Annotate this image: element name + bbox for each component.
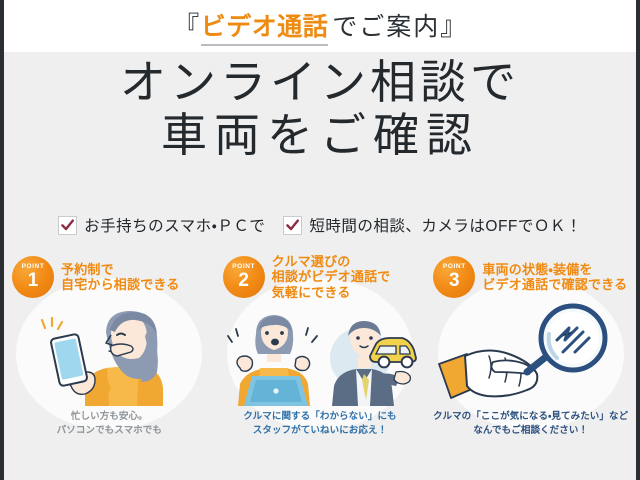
caption-line: クルマの「ここが気になる・見てみたい」など xyxy=(425,410,636,424)
check-label: 短時間の相談、カメラはOFFでＯＫ！ xyxy=(309,214,582,236)
badge-number: 2 xyxy=(238,271,249,290)
point-badge-3: POINT 3 xyxy=(433,256,475,298)
bracket-open: 『 xyxy=(173,6,200,43)
point-title-line: 自宅から相談できる xyxy=(61,277,180,293)
point-title-2: クルマ選びの 相談がビデオ通話で 気軽にできる xyxy=(272,254,391,301)
feature-check-row: お手持ちのスマホ・ＰＣで 短時間の相談、カメラはOFFでＯＫ！ xyxy=(4,214,636,236)
point-header-3: POINT 3 車両の状態・装備を ビデオ通話で確認できる xyxy=(425,252,636,302)
point-panel-3: POINT 3 車両の状態・装備を ビデオ通話で確認できる xyxy=(425,252,636,457)
promo-banner: 『 ビデオ通話 でご案内 』 オンライン相談で 車両をご確認 お手持ちのスマホ・… xyxy=(0,0,640,480)
check-item-camera-off: 短時間の相談、カメラはOFFでＯＫ！ xyxy=(283,214,582,236)
point-title-1: 予約制で 自宅から相談できる xyxy=(61,262,180,293)
point-badge-2: POINT 2 xyxy=(223,256,265,298)
check-label: お手持ちのスマホ・ＰＣで xyxy=(84,214,265,236)
header-tail-text: でご案内 xyxy=(332,7,440,43)
point-panel-2: POINT 2 クルマ選びの 相談がビデオ通話で 気軽にできる xyxy=(215,252,426,457)
badge-number: 3 xyxy=(449,271,460,290)
point-title-line: 予約制で xyxy=(61,262,180,278)
point-title-line: 気軽にできる xyxy=(272,285,391,301)
caption-line: 忙しい方も安心。 xyxy=(4,410,215,424)
check-icon xyxy=(58,216,77,235)
caption-line: スタッフがていねいにお応え！ xyxy=(215,424,426,438)
woman-with-smartphone-illustration xyxy=(4,302,215,406)
caption-line: パソコンでもスマホでも xyxy=(4,424,215,438)
point-title-line: クルマ選びの xyxy=(272,254,391,270)
point-title-line: ビデオ通話で確認できる xyxy=(482,277,627,293)
caption-line: クルマに関する「わからない」にも xyxy=(215,410,426,424)
hand-holding-magnifier-illustration xyxy=(425,302,636,406)
page-title: オンライン相談で 車両をご確認 xyxy=(4,56,636,162)
point-header-1: POINT 1 予約制で 自宅から相談できる xyxy=(4,252,215,302)
point-caption-1: 忙しい方も安心。 パソコンでもスマホでも xyxy=(4,406,215,437)
point-header-2: POINT 2 クルマ選びの 相談がビデオ通話で 気軽にできる xyxy=(215,252,426,302)
title-line-1: オンライン相談で xyxy=(4,56,636,109)
woman-at-laptop-and-staff-with-car-illustration xyxy=(215,302,426,406)
title-line-2: 車両をご確認 xyxy=(4,109,636,162)
caption-line: なんでもご相談ください！ xyxy=(425,424,636,438)
badge-number: 1 xyxy=(28,271,39,290)
point-caption-3: クルマの「ここが気になる・見てみたい」など なんでもご相談ください！ xyxy=(425,406,636,437)
point-panels: POINT 1 予約制で 自宅から相談できる xyxy=(4,252,636,457)
check-item-smartphone-pc: お手持ちのスマホ・ＰＣで xyxy=(58,214,265,236)
point-title-line: 車両の状態・装備を xyxy=(482,262,627,278)
header-band: 『 ビデオ通話 でご案内 』 xyxy=(4,0,636,52)
point-caption-2: クルマに関する「わからない」にも スタッフがていねいにお応え！ xyxy=(215,406,426,437)
point-badge-1: POINT 1 xyxy=(12,256,54,298)
point-title-3: 車両の状態・装備を ビデオ通話で確認できる xyxy=(482,262,627,293)
point-panel-1: POINT 1 予約制で 自宅から相談できる xyxy=(4,252,215,457)
header-accent-text: ビデオ通話 xyxy=(201,7,329,46)
check-icon xyxy=(283,216,302,235)
header-catchphrase: 『 ビデオ通話 でご案内 』 xyxy=(173,6,467,46)
point-title-line: 相談がビデオ通話で xyxy=(272,269,391,285)
bracket-close: 』 xyxy=(440,6,467,43)
